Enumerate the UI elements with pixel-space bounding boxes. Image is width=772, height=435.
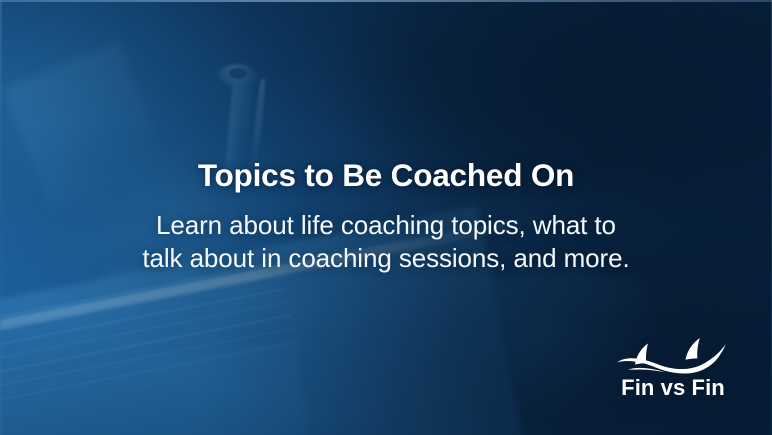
hero-banner: Topics to Be Coached On Learn about life… — [0, 0, 772, 435]
banner-subtitle-line-1: Learn about life coaching topics, what t… — [142, 209, 629, 243]
brand-logo[interactable]: Fin vs Fin — [607, 334, 739, 399]
banner-headline: Topics to Be Coached On — [198, 158, 574, 193]
banner-subtitle-line-2: talk about in coaching sessions, and mor… — [142, 242, 629, 276]
banner-subtitle: Learn about life coaching topics, what t… — [142, 209, 629, 277]
shark-fins-wave-icon — [613, 334, 733, 376]
logo-wordmark: Fin vs Fin — [621, 377, 725, 399]
